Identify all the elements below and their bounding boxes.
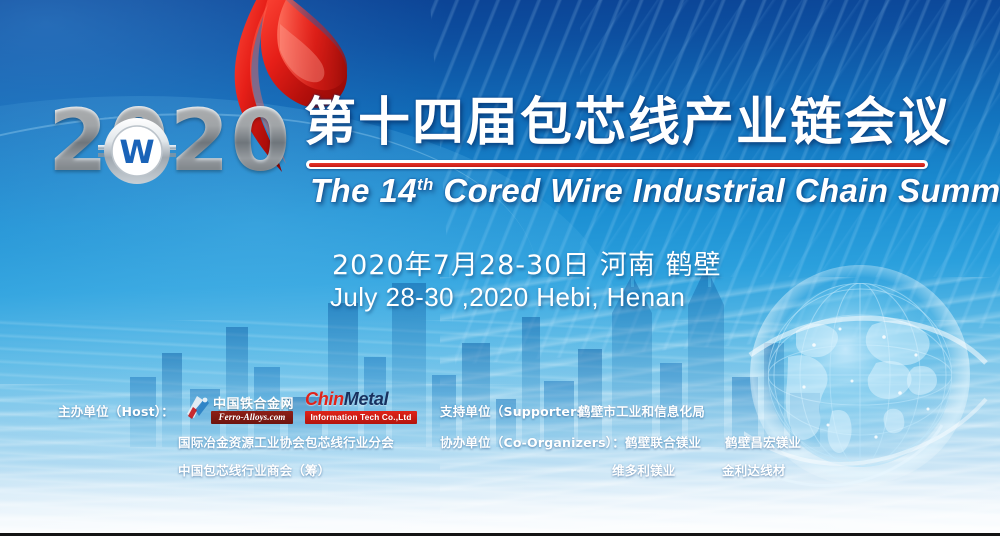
chinmetal-name-part1: Chin	[305, 389, 344, 409]
title-en-post: Cored Wire Industrial Chain Summit	[434, 172, 1000, 209]
event-date-cn: 2020年7月28-30日 河南 鹤壁	[332, 243, 722, 282]
chinmetal-tagline-bar: Information Tech Co.,Ltd	[305, 411, 417, 424]
chinmetal-name-part2: Metal	[344, 389, 389, 409]
ferro-alloys-url-bar: Ferro-Alloys.com	[211, 411, 293, 424]
host-label: 主办单位（Host）：	[58, 401, 174, 420]
chinmetal-tagline: Information Tech Co.,Ltd	[305, 411, 417, 424]
co-organizer-3: 维多利镁业	[612, 460, 676, 479]
host-org-1: 国际冶金资源工业协会包芯线行业分会	[178, 432, 394, 451]
credits-section: 主办单位（Host）： 中国铁合金网 Ferro-Alloys.com Chin…	[0, 386, 1000, 496]
ferro-alloys-name-cn: 中国铁合金网	[213, 393, 294, 412]
title-divider	[306, 160, 928, 169]
title-en-ordinal: th	[417, 175, 434, 194]
chinmetal-logo[interactable]: ChinMetal Information Tech Co.,Ltd	[305, 388, 417, 426]
page-title-en: The 14th Cored Wire Industrial Chain Sum…	[310, 172, 1000, 210]
host-org-2: 中国包芯线行业商会（筹）	[178, 460, 330, 479]
conference-banner: 2020 W 第十四届包芯线产业链会议 The 14th Cored Wire …	[0, 0, 1000, 536]
page-title-cn: 第十四届包芯线产业链会议	[304, 96, 952, 151]
chinmetal-name: ChinMetal	[305, 388, 417, 411]
title-en-pre: The 14	[310, 172, 417, 209]
co-organizers-label: 协办单位（Co-Organizers）：	[440, 432, 625, 451]
supporters-value: 鹤壁市工业和信息化局	[578, 401, 705, 420]
title-divider-bar	[309, 163, 925, 167]
w-medallion-icon: W	[98, 112, 176, 190]
co-organizer-1: 鹤壁联合镁业	[625, 432, 701, 451]
ferro-alloys-mark-icon	[185, 394, 211, 422]
event-date-en: July 28-30 ,2020 Hebi, Henan	[330, 282, 685, 313]
svg-text:W: W	[119, 133, 154, 171]
co-organizer-2: 鹤壁昌宏镁业	[725, 432, 801, 451]
ferro-alloys-logo[interactable]: 中国铁合金网 Ferro-Alloys.com	[185, 390, 293, 426]
ferro-alloys-url: Ferro-Alloys.com	[211, 411, 293, 424]
co-organizer-4: 金利达线材	[722, 460, 786, 479]
